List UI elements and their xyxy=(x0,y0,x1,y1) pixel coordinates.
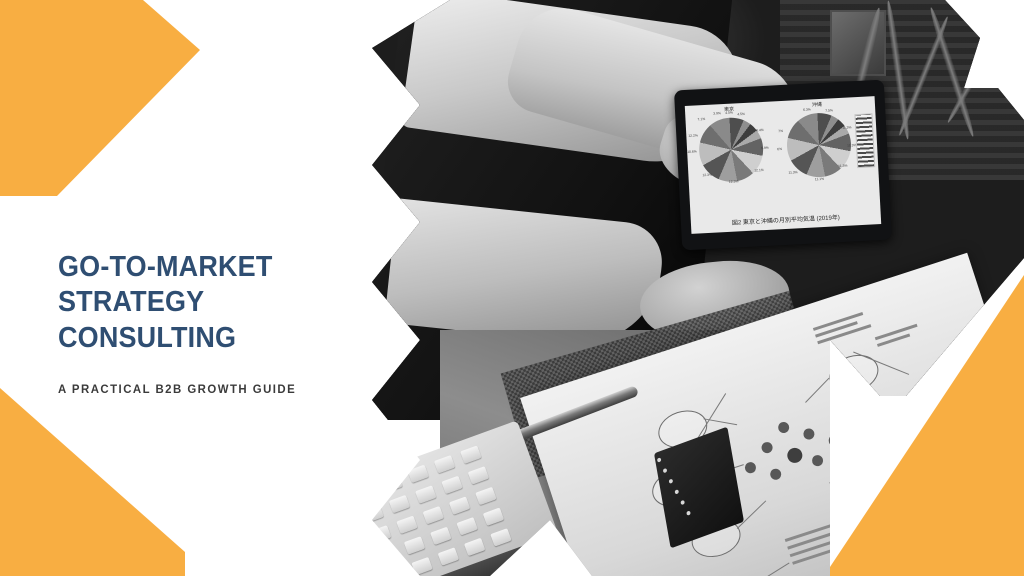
pie-slice-label: 11.3% xyxy=(838,164,848,168)
pie-slice-label: 7.1% xyxy=(697,117,705,121)
slide-text-block: GO-TO-MARKET STRATEGY CONSULTING A PRACT… xyxy=(58,250,368,396)
diagram-hub-node xyxy=(777,421,791,435)
diagram-hub-node xyxy=(769,467,783,481)
diagram-hub-node xyxy=(827,434,841,448)
diagram-node xyxy=(825,349,884,399)
pie-slice-label: 12.3% xyxy=(702,173,712,177)
pie-slice-label: 6.4% xyxy=(756,128,764,132)
pie-slice-label: 7% xyxy=(778,129,783,133)
tablet-device: 東京 沖縄 12.2% 10.6% 12.3% 12.3% 12.1% 6.9%… xyxy=(674,80,892,251)
tablet-screen: 東京 沖縄 12.2% 10.6% 12.3% 12.3% 12.1% 6.9%… xyxy=(685,96,881,234)
pie-chart-legend xyxy=(854,113,875,168)
diagram-hub-node xyxy=(802,427,816,441)
pie-slice-label: 12.2% xyxy=(688,133,698,137)
diagram-node xyxy=(868,398,927,448)
pie-slice-label: 3.9% xyxy=(713,111,721,115)
slide-subtitle: A PRACTICAL B2B GROWTH GUIDE xyxy=(58,382,353,396)
chart-caption: 図2 東京と沖縄の月別平均気温 (2019年) xyxy=(691,210,881,229)
pie-slice-label: 6.9% xyxy=(761,146,769,150)
orange-triangle-bottom-left-decoration xyxy=(0,380,185,576)
pie-slice-label: 6.3% xyxy=(803,107,811,111)
pie-slice-label: 11.3% xyxy=(842,125,852,129)
presentation-slide: 東京 沖縄 12.2% 10.6% 12.3% 12.3% 12.1% 6.9%… xyxy=(0,0,1024,576)
pie-slice-label: 12.1% xyxy=(754,168,764,172)
diagram-center-node xyxy=(785,446,804,465)
photo-collage: 東京 沖縄 12.2% 10.6% 12.3% 12.3% 12.1% 6.9%… xyxy=(360,0,1024,576)
diagram-connector xyxy=(805,378,829,403)
diagram-connector xyxy=(837,424,874,437)
orange-pentagon-arrow-decoration xyxy=(0,0,200,200)
pie-slice-label: 12.3% xyxy=(729,179,739,183)
diagram-text-line xyxy=(871,539,910,554)
diagram-hub-node xyxy=(744,461,758,475)
diagram-hub-node xyxy=(811,454,825,468)
pie-slice-label: 7.5% xyxy=(825,108,833,112)
pie-slice-label: 10.6% xyxy=(687,149,697,153)
diagram-node xyxy=(863,460,922,510)
pie-chart-okinawa xyxy=(785,111,852,178)
pie-slice-label: 6% xyxy=(777,147,782,151)
pie-slice-label: 11.3% xyxy=(788,170,798,174)
slide-title: GO-TO-MARKET STRATEGY CONSULTING xyxy=(58,250,346,356)
pie-slice-label: 4.5% xyxy=(737,112,745,116)
diagram-connector xyxy=(829,482,867,488)
diagram-text-line xyxy=(868,527,920,546)
photo-chevron-mask: 東京 沖縄 12.2% 10.6% 12.3% 12.3% 12.1% 6.9%… xyxy=(360,0,1024,576)
pie-slice-label: 4.5% xyxy=(725,111,733,115)
diagram-hub-node xyxy=(760,441,774,455)
diagram-connector xyxy=(730,562,790,576)
pie-slice-label: 11.1% xyxy=(815,177,825,181)
